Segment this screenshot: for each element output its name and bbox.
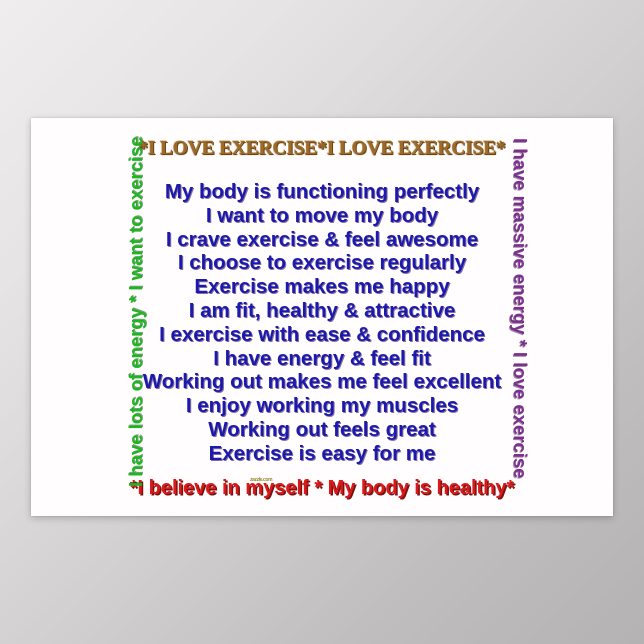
poster-left-vertical-banner: I have lots of energy * I want to exerci…	[125, 0, 151, 130]
right-vertical-text: I have massive energy * I love exercise	[509, 138, 531, 498]
poster-sheet: *I LOVE EXERCISE*I LOVE EXERCISE* My bod…	[31, 118, 613, 516]
poster-scene: *I LOVE EXERCISE*I LOVE EXERCISE* My bod…	[0, 0, 644, 644]
left-vertical-text: I have lots of energy * I want to exerci…	[125, 127, 147, 487]
poster-right-vertical-banner: I have massive energy * I love exercise	[483, 138, 509, 498]
